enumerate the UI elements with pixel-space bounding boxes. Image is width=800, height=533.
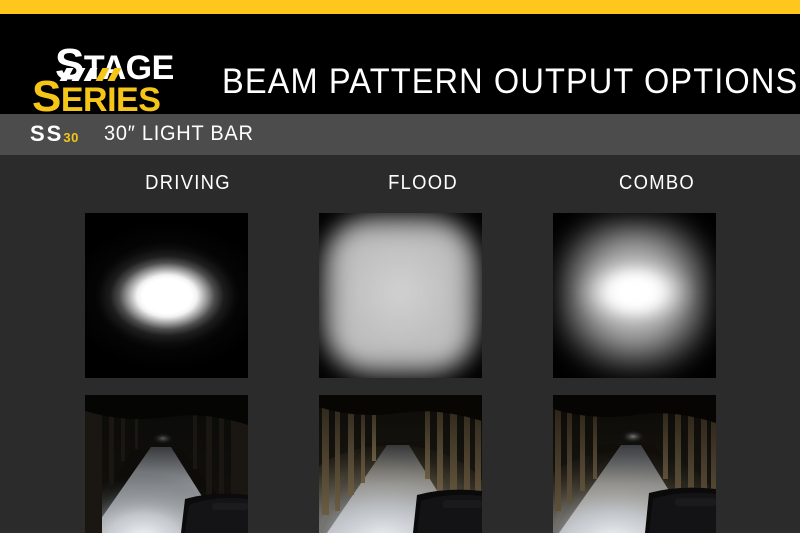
- column-header-driving: DRIVING: [93, 173, 283, 193]
- driving-road-photo: [85, 395, 248, 533]
- page-title: BEAM PATTERN OUTPUT OPTIONS: [222, 64, 798, 99]
- column-header-combo: COMBO: [562, 173, 752, 193]
- combo-road-scene: [553, 395, 716, 533]
- driving-beam-hotspot: [93, 242, 241, 350]
- combo-beam-hotspot: [572, 249, 698, 335]
- stage-series-logo: STAGE SERIES: [30, 41, 180, 113]
- ss-badge-letters: SS: [30, 121, 63, 146]
- header-band: STAGE SERIES BEAM PATTERN OUTPUT OPTIONS: [0, 14, 800, 114]
- comparison-grid: DRIVING FLOOD COMBO: [0, 155, 800, 533]
- flood-road-scene: [319, 395, 482, 533]
- driving-beam-pattern: [85, 213, 248, 378]
- logo-text-series: SERIES: [32, 75, 160, 119]
- top-accent-strip: [0, 0, 800, 14]
- flood-beam-halo: [321, 215, 480, 376]
- flood-beam-pattern: [319, 213, 482, 378]
- column-header-flood: FLOOD: [328, 173, 518, 193]
- flood-road-photo: [319, 395, 482, 533]
- combo-road-photo: [553, 395, 716, 533]
- ss-model-badge: SS30: [30, 123, 79, 149]
- ss-badge-number: 30: [63, 130, 78, 145]
- driving-road-scene: [85, 395, 248, 533]
- combo-beam-pattern: [553, 213, 716, 378]
- product-name-label: 30″ LIGHT BAR: [104, 123, 254, 145]
- product-subbar: SS30 30″ LIGHT BAR: [0, 114, 800, 155]
- beam-pattern-infographic: STAGE SERIES BEAM PATTERN OUTPUT OPTIONS…: [0, 0, 800, 533]
